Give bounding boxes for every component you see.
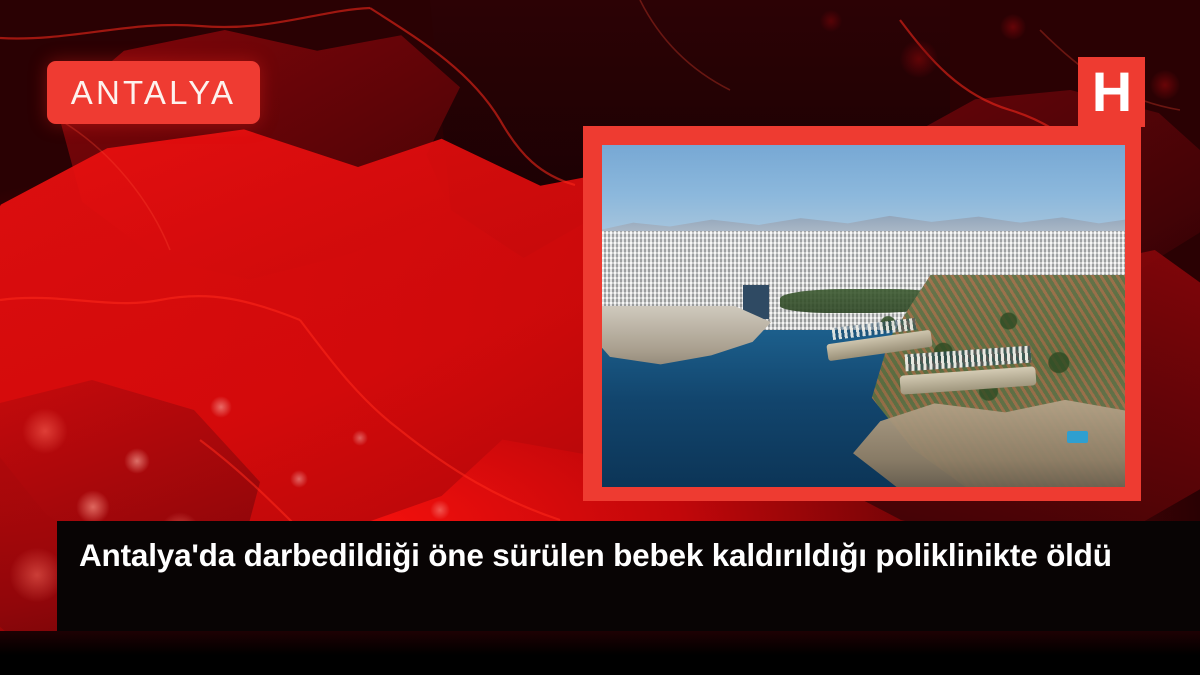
photo-antalya-aerial	[602, 145, 1125, 487]
location-badge: ANTALYA	[47, 61, 260, 124]
haberler-logo: H	[1078, 57, 1145, 127]
photo-frame	[583, 126, 1141, 501]
location-badge-label: ANTALYA	[71, 76, 236, 109]
logo-letter: H	[1092, 64, 1131, 120]
headline: Antalya'da darbedildiği öne sürülen bebe…	[79, 535, 1182, 576]
caption-bar: Antalya'da darbedildiği öne sürülen bebe…	[57, 521, 1200, 631]
news-card: ANTALYA H Antalya'da darbedildiği öne sü…	[0, 0, 1200, 675]
photo-swimming-pool	[1067, 431, 1088, 443]
bottom-strip	[0, 631, 1200, 675]
